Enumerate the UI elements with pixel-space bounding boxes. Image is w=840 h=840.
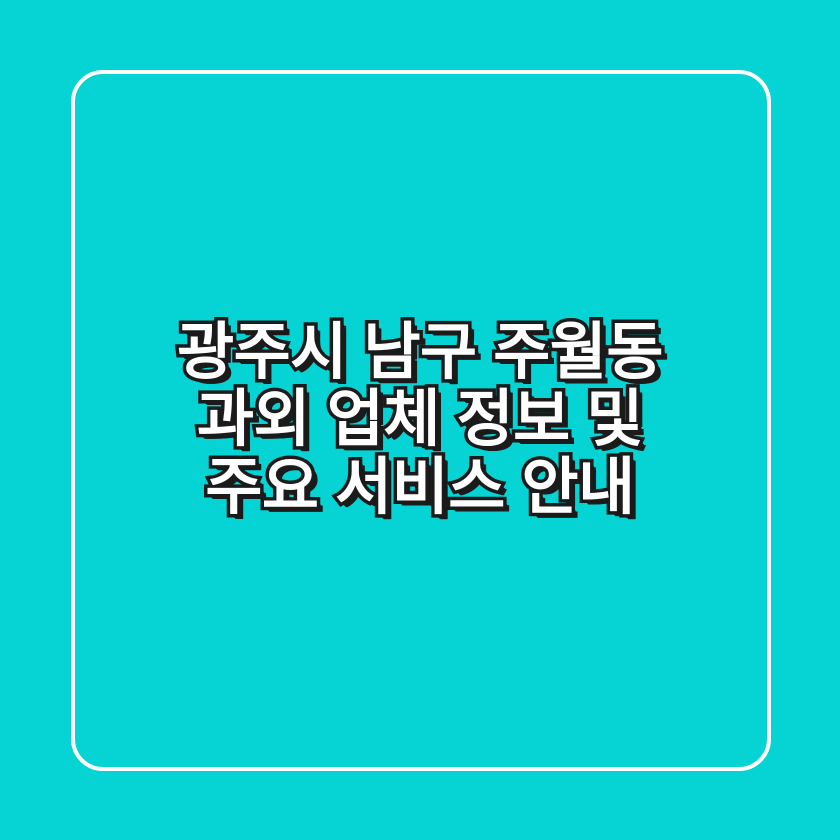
- poster-canvas: 광주시 남구 주월동 과외 업체 정보 및 주요 서비스 안내: [0, 0, 840, 840]
- headline-line-2: 과외 업체 정보 및: [90, 386, 750, 453]
- headline-line-3: 주요 서비스 안내: [90, 454, 750, 521]
- headline-line-1: 광주시 남구 주월동: [90, 319, 750, 386]
- poster-headline: 광주시 남구 주월동 과외 업체 정보 및 주요 서비스 안내: [90, 319, 750, 521]
- headline-container: 광주시 남구 주월동 과외 업체 정보 및 주요 서비스 안내: [0, 0, 840, 840]
